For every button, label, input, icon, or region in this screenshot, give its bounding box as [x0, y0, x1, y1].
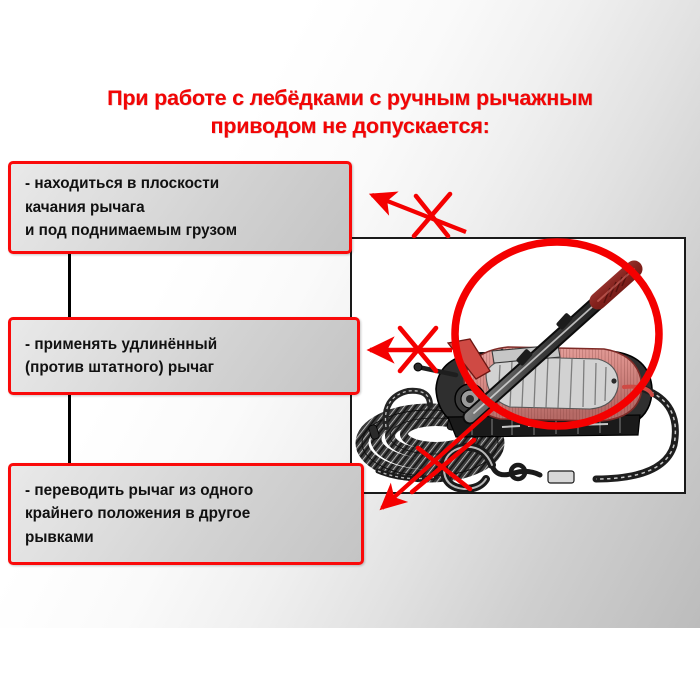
- rule-box-2: - применять удлинённый (против штатного)…: [8, 317, 360, 395]
- illustration-frame: [350, 237, 686, 494]
- connector-line-box2-to-box3: [68, 394, 71, 464]
- page-title: При работе с лебёдками с ручным рычажным…: [0, 84, 700, 140]
- lever-hoist-winch-illustration: [352, 239, 686, 494]
- rule-box-1: - находиться в плоскости качания рычага …: [8, 161, 352, 254]
- connector-line-box1-to-box2: [68, 254, 71, 318]
- rule-box-3: - переводить рычаг из одного крайнего по…: [8, 463, 364, 565]
- lever-grip: [598, 269, 634, 303]
- safety-poster: При работе с лебёдками с ручным рычажным…: [0, 0, 700, 700]
